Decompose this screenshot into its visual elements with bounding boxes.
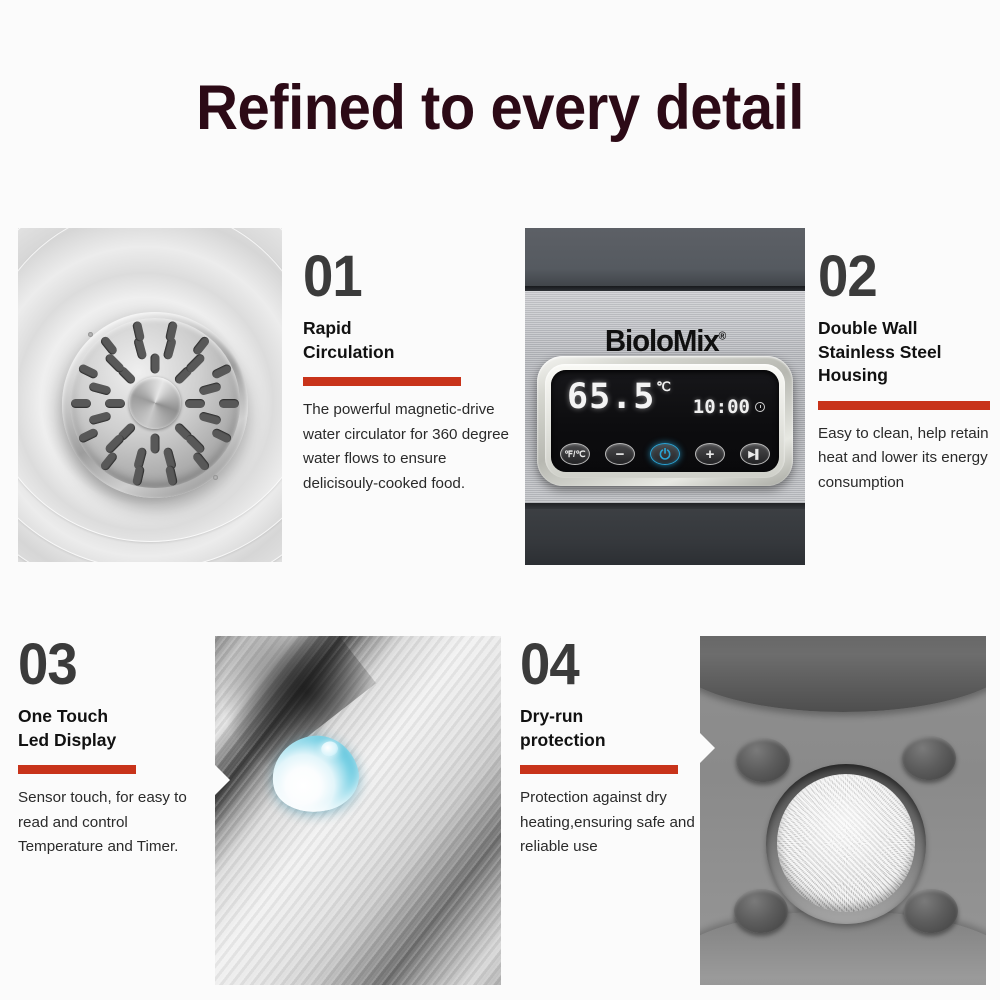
timer-readout: 10:00 bbox=[693, 396, 765, 418]
pump-grille-slot bbox=[184, 352, 206, 374]
power-icon: ⏻ bbox=[659, 447, 670, 461]
pump-grille-slot bbox=[71, 399, 91, 408]
pump-grille-slot bbox=[151, 353, 160, 373]
brand-logo: BioloMix® bbox=[532, 323, 798, 359]
feature-number: 01 bbox=[303, 248, 512, 306]
feature-accent-bar bbox=[303, 377, 461, 386]
feature-body: Easy to clean, help retain heat and lowe… bbox=[818, 422, 1000, 496]
pump-grille-slot bbox=[104, 432, 126, 454]
feature-heading: Rapid Circulation bbox=[303, 317, 525, 364]
feature-block-01: 01 Rapid Circulation The powerful magnet… bbox=[303, 248, 525, 496]
feature-block-04: 04 Dry-run protection Protection against… bbox=[520, 636, 696, 860]
plus-button[interactable]: + bbox=[695, 443, 725, 465]
pump-grille-face bbox=[70, 318, 240, 488]
page-title: Refined to every detail bbox=[40, 72, 960, 144]
pump-grille-slot bbox=[211, 362, 233, 379]
pump-grille-slot bbox=[165, 320, 178, 342]
rubber-bumper bbox=[902, 736, 956, 780]
display-bezel-inner: 65.5 ℃ 10:00 ℉/℃ − ⏻ + ▶▌ bbox=[545, 364, 785, 478]
pump-grille-slot bbox=[184, 432, 206, 454]
timer-value: 10:00 bbox=[693, 396, 750, 418]
pump-grille-slot bbox=[77, 362, 99, 379]
panel-bottom-band bbox=[525, 509, 805, 565]
pump-grille-slot bbox=[99, 335, 119, 356]
pointer-arrow-icon bbox=[700, 732, 715, 764]
unit-toggle-icon: ℉/℃ bbox=[564, 450, 585, 459]
feature-body: The powerful magnetic-drive water circul… bbox=[303, 398, 525, 496]
pump-grille-slot bbox=[185, 399, 205, 408]
pump-hub bbox=[129, 377, 181, 429]
feature-block-02: 02 Double Wall Stainless Steel Housing E… bbox=[818, 248, 1000, 495]
clock-icon bbox=[755, 402, 765, 412]
feature-accent-bar bbox=[18, 765, 136, 774]
feature-accent-bar bbox=[520, 765, 678, 774]
feature-body: Protection against dry heating,ensuring … bbox=[520, 786, 696, 860]
plus-icon: + bbox=[706, 447, 715, 462]
feature-accent-bar bbox=[818, 401, 990, 410]
pump-grille-slot bbox=[191, 335, 211, 356]
registered-trademark-icon: ® bbox=[719, 331, 726, 343]
unit-toggle-button[interactable]: ℉/℃ bbox=[560, 443, 590, 465]
pump-grille-slot bbox=[88, 411, 112, 425]
pump-grille-slot bbox=[151, 433, 160, 453]
temperature-value: 65.5 bbox=[567, 379, 655, 415]
temperature-unit: ℃ bbox=[656, 380, 671, 395]
minus-icon: − bbox=[616, 447, 625, 462]
rubber-bumper bbox=[736, 738, 790, 782]
rubber-bumper bbox=[734, 889, 788, 933]
rubber-bumper bbox=[904, 889, 958, 933]
power-button[interactable]: ⏻ bbox=[650, 443, 680, 465]
base-filter-photo bbox=[700, 636, 986, 985]
feature-number: 04 bbox=[520, 636, 685, 694]
base-upper-band bbox=[700, 636, 986, 712]
feature-number: 03 bbox=[18, 636, 197, 694]
feature-heading: Double Wall Stainless Steel Housing bbox=[818, 317, 1000, 388]
panel-top-band bbox=[525, 228, 805, 286]
feature-number: 02 bbox=[818, 248, 989, 306]
pump-grille-slot bbox=[88, 381, 112, 395]
pump-grille-outer bbox=[62, 312, 248, 498]
pump-grille-slot bbox=[104, 352, 126, 374]
feature-body: Sensor touch, for easy to read and contr… bbox=[18, 786, 208, 860]
display-bezel: 65.5 ℃ 10:00 ℉/℃ − ⏻ + ▶▌ bbox=[537, 356, 793, 486]
minus-button[interactable]: − bbox=[605, 443, 635, 465]
pump-grille-slot bbox=[191, 450, 211, 471]
pump-grille-slot bbox=[105, 399, 125, 408]
control-button-row: ℉/℃ − ⏻ + ▶▌ bbox=[560, 443, 770, 465]
pointer-arrow-icon bbox=[215, 764, 230, 796]
temperature-readout: 65.5 ℃ bbox=[567, 379, 671, 415]
pump-screw-icon bbox=[88, 332, 93, 337]
circulation-pump-photo bbox=[18, 228, 282, 562]
pump-grille-slot bbox=[99, 450, 119, 471]
feature-heading: Dry-run protection bbox=[520, 705, 696, 752]
play-pause-button[interactable]: ▶▌ bbox=[740, 443, 770, 465]
feature-heading: One Touch Led Display bbox=[18, 705, 208, 752]
pump-screw-icon bbox=[213, 475, 218, 480]
filter-mesh bbox=[777, 774, 915, 912]
pump-grille-slot bbox=[219, 399, 239, 408]
water-droplet-photo bbox=[215, 636, 501, 985]
infographic-page: Refined to every detail BioloMix® 65.5 bbox=[0, 0, 1000, 1000]
led-display-screen: 65.5 ℃ 10:00 ℉/℃ − ⏻ + ▶▌ bbox=[551, 370, 779, 472]
pump-grille-slot bbox=[165, 464, 178, 486]
control-panel-photo: BioloMix® 65.5 ℃ 10:00 ℉/℃ − ⏻ bbox=[525, 228, 805, 565]
brand-logo-text: BioloMix bbox=[605, 323, 719, 358]
filter-rim bbox=[766, 764, 926, 924]
play-pause-icon: ▶▌ bbox=[748, 450, 761, 459]
pump-grille-slot bbox=[198, 381, 222, 395]
feature-block-03: 03 One Touch Led Display Sensor touch, f… bbox=[18, 636, 208, 860]
pump-grille-slot bbox=[77, 427, 99, 444]
pump-grille-slot bbox=[198, 411, 222, 425]
pump-grille-slot bbox=[211, 427, 233, 444]
